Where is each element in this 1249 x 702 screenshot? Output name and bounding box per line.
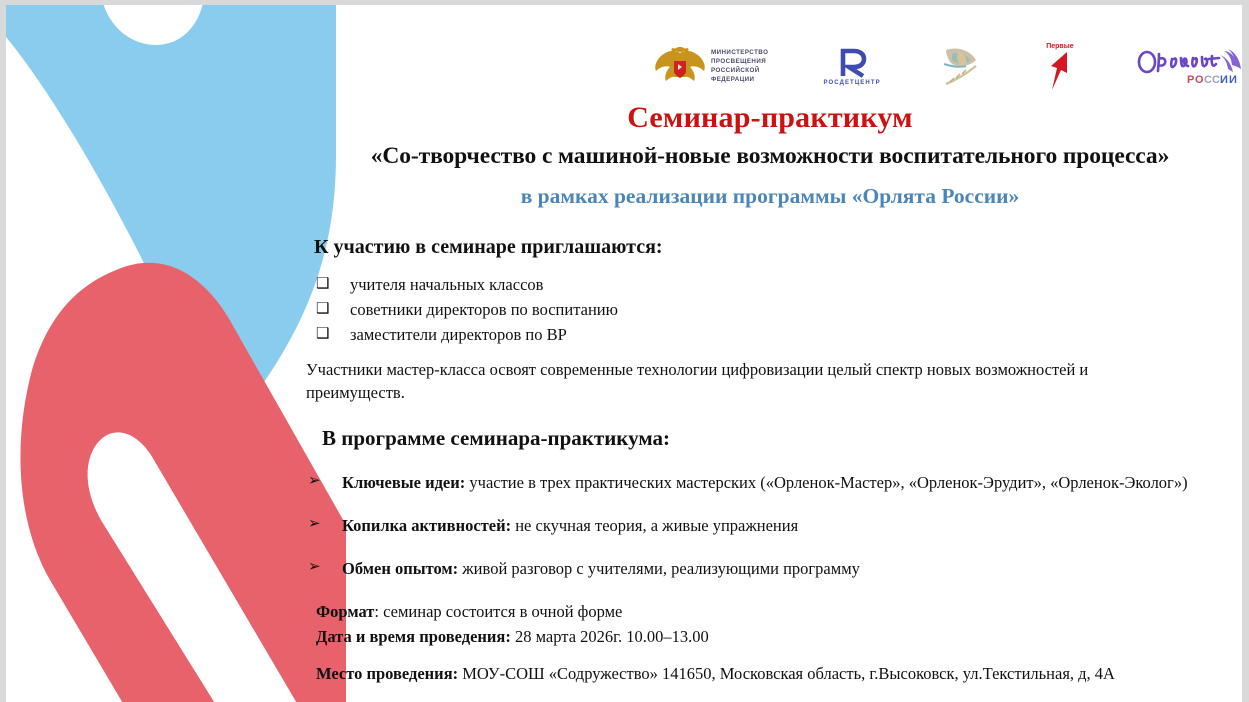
program-item-lead: Копилка активностей: xyxy=(342,516,511,535)
arrow-bullet-icon: ➢ xyxy=(308,514,342,536)
double-headed-eagle-icon xyxy=(654,47,706,87)
square-bullet-icon: ❑ xyxy=(316,273,350,296)
program-item-text: не скучная теория, а живые упражнения xyxy=(511,516,798,535)
arrow-bullet-icon: ➢ xyxy=(308,557,342,579)
square-bullet-icon: ❑ xyxy=(316,298,350,321)
list-item: ➢ Ключевые идеи: участие в трех практиче… xyxy=(308,471,1242,495)
decorative-background xyxy=(6,5,346,702)
poster-sheet: МИНИСТЕРСТВО ПРОСВЕЩЕНИЯ РОССИЙСКОЙ ФЕДЕ… xyxy=(6,5,1242,702)
svg-text:О: О xyxy=(1195,74,1204,86)
rosdetcentr-mark-icon xyxy=(835,48,869,78)
intro-paragraph-line-1: Участники мастер-класса освоят современн… xyxy=(306,358,1242,381)
invite-list: ❑ учителя начальных классов ❑ советники … xyxy=(296,273,1242,347)
svg-text:И: И xyxy=(1220,74,1228,86)
program-item-body: Ключевые идеи: участие в трех практическ… xyxy=(342,471,1188,495)
program-list: ➢ Ключевые идеи: участие в трех практиче… xyxy=(296,471,1242,581)
eco-emblem-logo xyxy=(936,44,988,90)
pervye-arrow-icon xyxy=(1043,50,1077,92)
footer-venue-text: МОУ-СОШ «Содружество» 141650, Московская… xyxy=(458,664,1115,683)
eco-emblem-icon xyxy=(936,44,988,90)
svg-text:И: И xyxy=(1229,74,1237,86)
list-item: ➢ Обмен опытом: живой разговор с учителя… xyxy=(308,557,1242,581)
ministry-logo-caption: МИНИСТЕРСТВО ПРОСВЕЩЕНИЯ РОССИЙСКОЙ ФЕДЕ… xyxy=(711,49,768,84)
program-item-body: Обмен опытом: живой разговор с учителями… xyxy=(342,557,860,581)
footer-format-line: Формат: семинар состоится в очной форме xyxy=(316,600,1242,625)
footer-venue-line: Место проведения: МОУ-СОШ «Содружество» … xyxy=(316,662,1242,687)
program-item-body: Копилка активностей: не скучная теория, … xyxy=(342,514,798,538)
footer-format-text: : семинар состоится в очной форме xyxy=(374,602,622,621)
svg-text:Р: Р xyxy=(1187,74,1195,86)
poster-title-main: Семинар-практикум xyxy=(296,101,1242,135)
footer-datetime-text: 28 марта 2026г. 10.00–13.00 xyxy=(511,627,709,646)
square-bullet-icon: ❑ xyxy=(316,323,350,346)
program-item-text: живой разговор с учителями, реализующими… xyxy=(458,559,860,578)
pervye-logo: Первые xyxy=(1043,43,1077,92)
list-item: ❑ учителя начальных классов xyxy=(316,273,1242,298)
intro-paragraph-line-2: преимуществ. xyxy=(306,381,1242,404)
logo-row: МИНИСТЕРСТВО ПРОСВЕЩЕНИЯ РОССИЙСКОЙ ФЕДЕ… xyxy=(654,33,1242,101)
poster-title-program: в рамках реализации программы «Орлята Ро… xyxy=(296,184,1242,209)
ministry-line-3: РОССИЙСКОЙ xyxy=(711,67,768,76)
list-item: ❑ заместители директоров по ВР xyxy=(316,323,1242,348)
program-item-lead: Обмен опытом: xyxy=(342,559,458,578)
orlyata-rossii-logo: Р О С С И И xyxy=(1132,45,1242,89)
orlyata-rossii-mark-icon: Р О С С И И xyxy=(1132,45,1242,89)
poster-page: МИНИСТЕРСТВО ПРОСВЕЩЕНИЯ РОССИЙСКОЙ ФЕДЕ… xyxy=(0,0,1249,702)
ministry-line-1: МИНИСТЕРСТВО xyxy=(711,49,768,58)
pervye-caption: Первые xyxy=(1046,43,1073,50)
program-heading: В программе семинара-практикума: xyxy=(296,426,1242,451)
invite-heading: К участию в семинаре приглашаются: xyxy=(296,236,1242,259)
poster-footer: Формат: семинар состоится в очной форме … xyxy=(296,600,1242,686)
program-item-lead: Ключевые идеи: xyxy=(342,473,465,492)
poster-content: Семинар-практикум «Со-творчество с машин… xyxy=(296,101,1242,686)
footer-format-lead: Формат xyxy=(316,602,374,621)
rosdetcentr-caption: РОСДЕТЦЕНТР xyxy=(823,80,880,86)
footer-venue-lead: Место проведения: xyxy=(316,664,458,683)
ministry-line-4: ФЕДЕРАЦИИ xyxy=(711,76,768,85)
invite-item-label: заместители директоров по ВР xyxy=(350,323,567,348)
footer-datetime-line: Дата и время проведения: 28 марта 2026г.… xyxy=(316,625,1242,650)
footer-datetime-lead: Дата и время проведения: xyxy=(316,627,511,646)
invite-item-label: учителя начальных классов xyxy=(350,273,543,298)
invite-item-label: советники директоров по воспитанию xyxy=(350,298,618,323)
rosdetcentr-logo: РОСДЕТЦЕНТР xyxy=(823,48,880,86)
blue-wedge-shape xyxy=(6,5,336,430)
list-item: ➢ Копилка активностей: не скучная теория… xyxy=(308,514,1242,538)
program-item-text: участие в трех практических мастерских (… xyxy=(465,473,1187,492)
ministry-of-education-logo: МИНИСТЕРСТВО ПРОСВЕЩЕНИЯ РОССИЙСКОЙ ФЕДЕ… xyxy=(654,47,768,87)
poster-title-sub: «Со-творчество с машиной-новые возможнос… xyxy=(296,143,1242,170)
footer-spacer xyxy=(316,650,1242,662)
arrow-bullet-icon: ➢ xyxy=(308,471,342,493)
intro-paragraph: Участники мастер-класса освоят современн… xyxy=(296,358,1242,405)
list-item: ❑ советники директоров по воспитанию xyxy=(316,298,1242,323)
ministry-line-2: ПРОСВЕЩЕНИЯ xyxy=(711,58,768,67)
